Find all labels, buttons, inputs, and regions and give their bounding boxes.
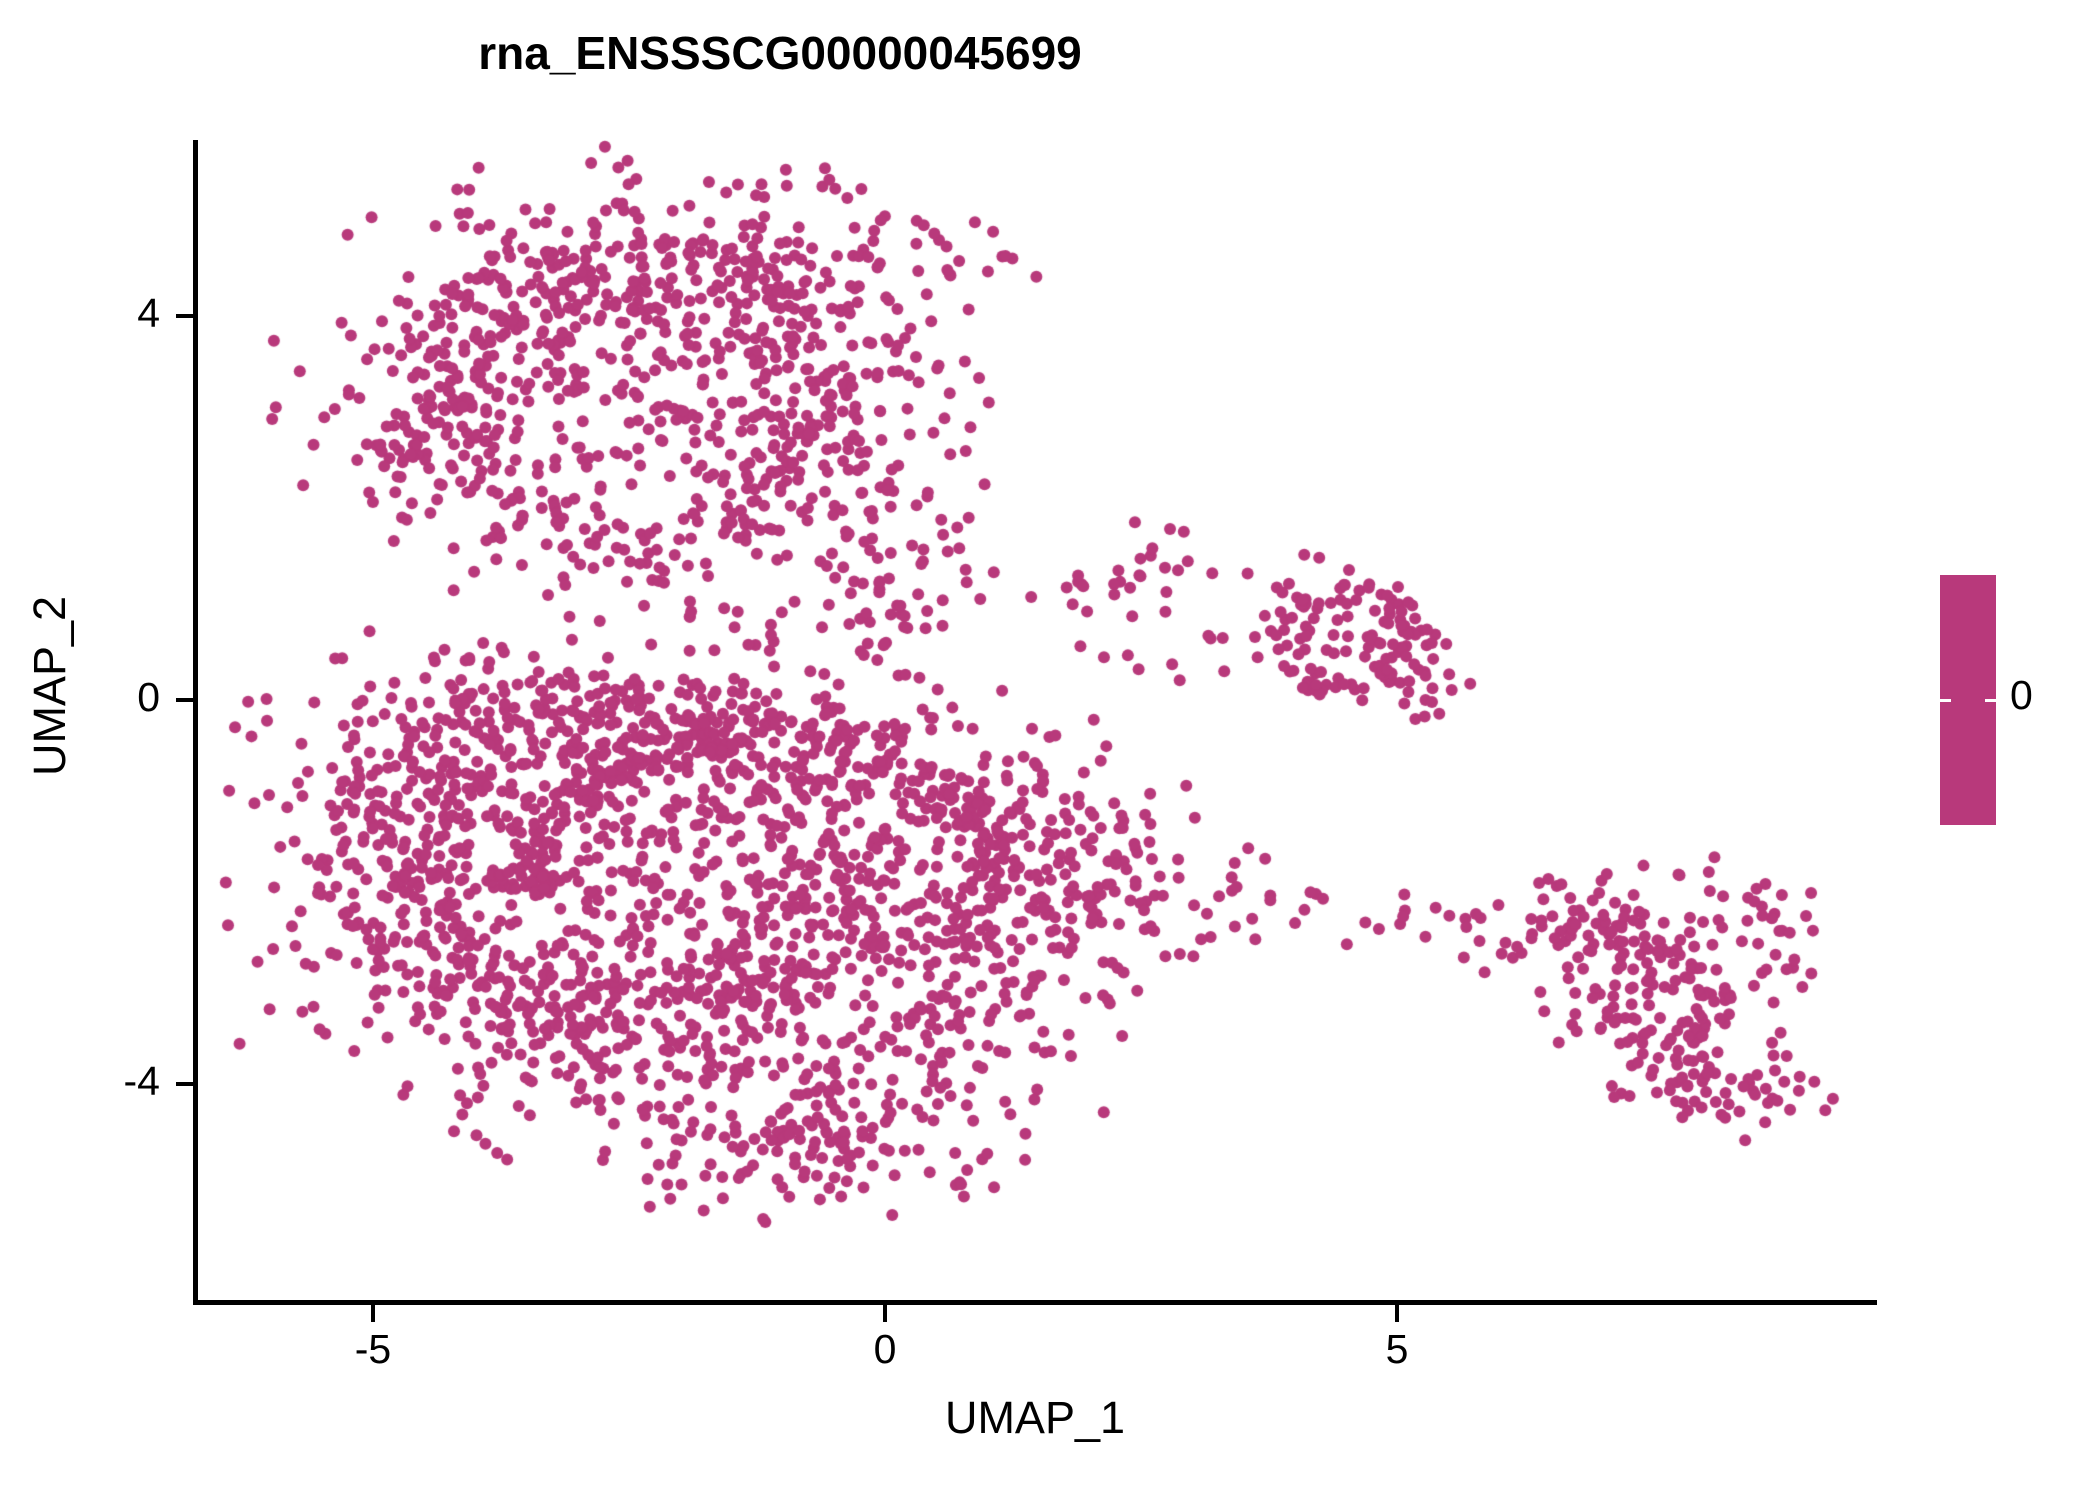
colorbar-legend: 0 bbox=[1940, 575, 2090, 895]
y-axis-title: UMAP_2 bbox=[24, 386, 76, 986]
y-tick-mark bbox=[176, 314, 193, 318]
scatter-points-layer bbox=[195, 140, 1875, 1302]
page-title: rna_ENSSSCG00000045699 bbox=[0, 26, 1560, 80]
colorbar-tick-mark bbox=[1940, 699, 1951, 702]
x-axis-title: UMAP_1 bbox=[193, 1392, 1877, 1444]
x-tick-label: -5 bbox=[293, 1326, 453, 1373]
y-tick-mark bbox=[176, 698, 193, 702]
x-tick-label: 0 bbox=[805, 1326, 965, 1373]
figure-root: rna_ENSSSCG00000045699 -5 0 5 4 0 -4 UMA… bbox=[0, 0, 2100, 1500]
x-tick-mark bbox=[371, 1305, 375, 1322]
y-tick-mark bbox=[176, 1082, 193, 1086]
y-tick-label: -4 bbox=[0, 1058, 160, 1105]
x-tick-label: 5 bbox=[1317, 1326, 1477, 1373]
x-tick-mark bbox=[1395, 1305, 1399, 1322]
colorbar-tick-mark bbox=[1985, 699, 1996, 702]
plot-panel bbox=[195, 140, 1875, 1302]
y-tick-label: 4 bbox=[0, 290, 160, 337]
colorbar-tick-label: 0 bbox=[2010, 675, 2033, 716]
x-tick-mark bbox=[883, 1305, 887, 1322]
